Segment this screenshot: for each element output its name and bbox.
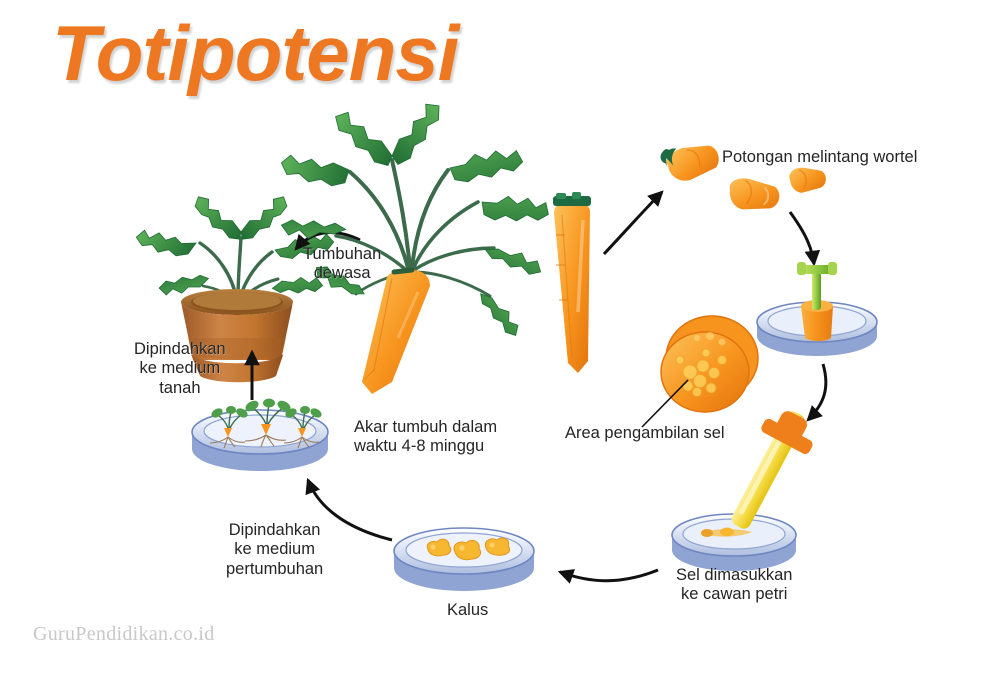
label-transfer-growth-line3: pertumbuhan: [226, 560, 323, 578]
label-mature-plant: Tumbuhandewasa: [303, 245, 381, 284]
diagram-page: Totipotensi: [0, 0, 1000, 674]
plantlets-petri: [192, 399, 328, 471]
label-mature-plant-line1: Tumbuhan: [303, 245, 381, 263]
label-roots-line1: Akar tumbuh dalam: [354, 418, 497, 436]
arrow-corer-to-pipette: [808, 364, 826, 420]
label-cross-section: Potongan melintang wortel: [722, 148, 917, 167]
petri-dish-corer: [757, 262, 877, 356]
harvested-carrot: [553, 192, 591, 373]
label-transfer-to-growth-medium: Dipindahkanke mediumpertumbuhan: [226, 521, 323, 579]
label-roots-growth-time: Akar tumbuh dalamwaktu 4-8 minggu: [354, 418, 497, 457]
label-cells-petri-line1: Sel dimasukkan: [676, 566, 792, 584]
label-transfer-to-soil: Dipindahkanke mediumtanah: [134, 340, 226, 398]
label-roots-line2: waktu 4-8 minggu: [354, 437, 484, 455]
label-transfer-to-soil-line3: tanah: [159, 379, 200, 397]
label-transfer-growth-line1: Dipindahkan: [229, 521, 321, 539]
callus-petri: [394, 528, 534, 591]
label-transfer-to-soil-line2: ke medium: [140, 359, 221, 377]
watermark: GuruPendidikan.co.id: [33, 623, 215, 646]
arrow-to-callus: [560, 570, 658, 581]
label-transfer-to-soil-line1: Dipindahkan: [134, 340, 226, 358]
label-transfer-growth-line2: ke medium: [234, 540, 315, 558]
label-cells-petri-line2: ke cawan petri: [681, 585, 787, 603]
label-mature-plant-line2: dewasa: [314, 264, 371, 282]
diagram-artwork: [0, 0, 1000, 674]
label-cell-collection-area: Area pengambilan sel: [565, 424, 725, 443]
arrow-carrot-to-chunks: [604, 192, 662, 254]
magnified-slices: [642, 316, 758, 427]
label-cells-into-petri: Sel dimasukkanke cawan petri: [676, 566, 792, 605]
label-callus: Kalus: [447, 601, 488, 620]
arrow-chunks-to-corer: [790, 212, 814, 264]
